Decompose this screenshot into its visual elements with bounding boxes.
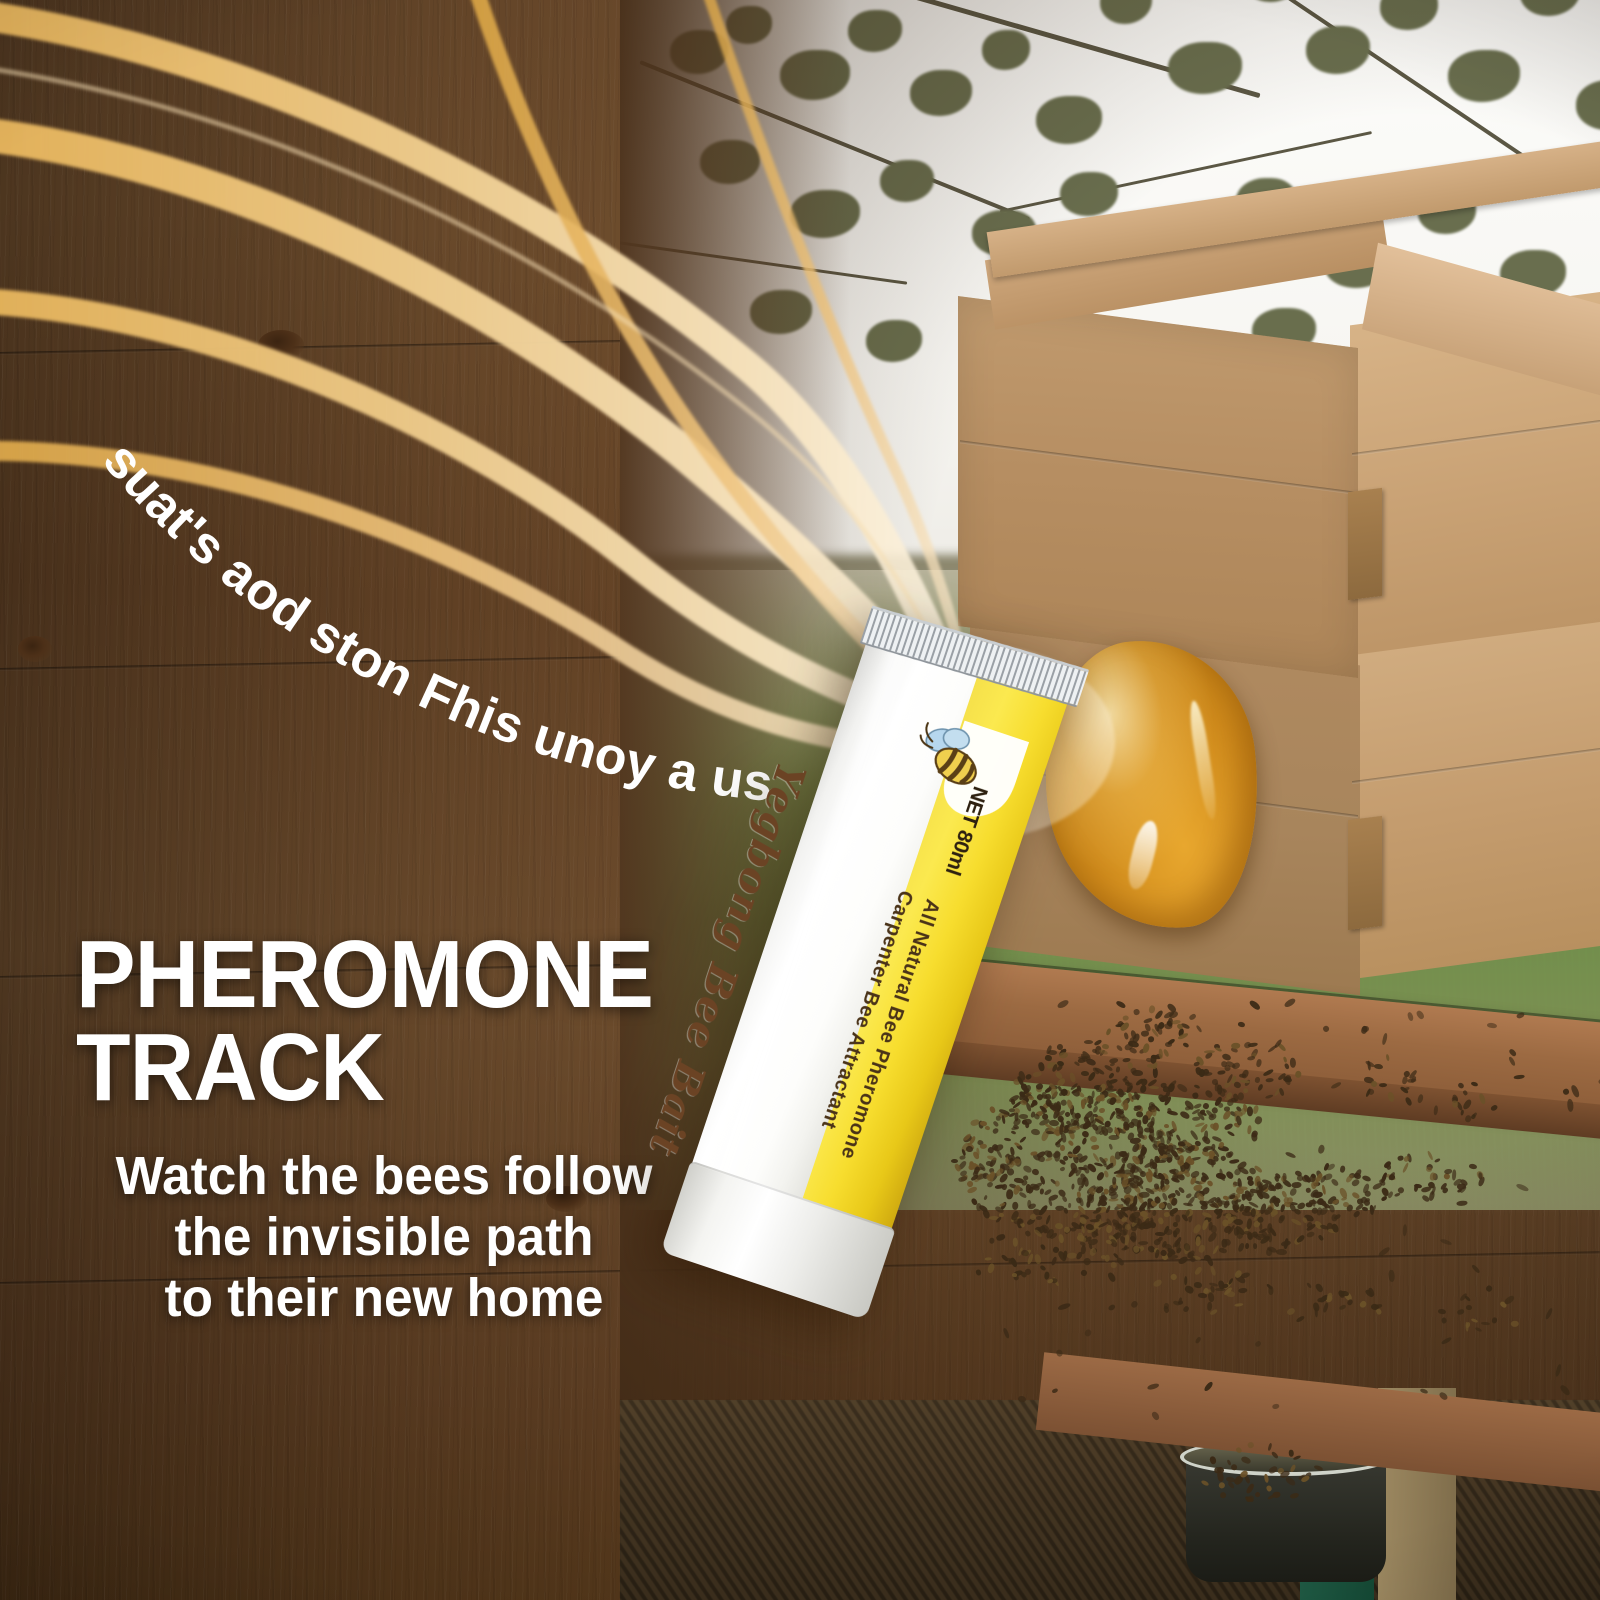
page-title: PHEROMONE TRACK [76,928,653,1114]
poster-canvas: suat's aod ston Fhis unoy a ustam PHEROM… [0,0,1600,1600]
